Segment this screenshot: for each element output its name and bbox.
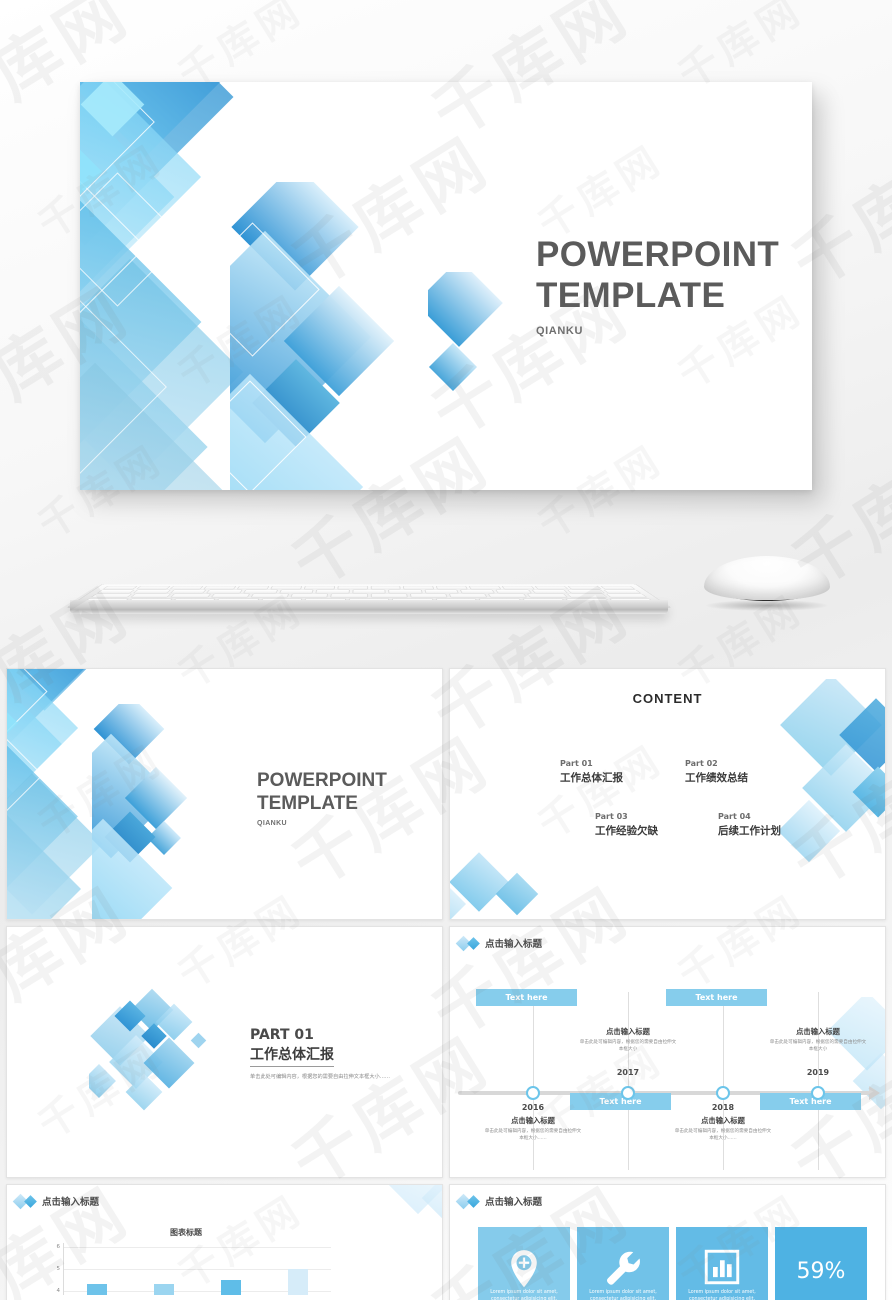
keyboard-key[interactable]: [606, 594, 648, 598]
keyboard-device: [66, 556, 672, 622]
timeline-node-1[interactable]: [621, 1086, 635, 1100]
keyboard-key[interactable]: [170, 590, 207, 594]
keyboard-key[interactable]: [236, 586, 269, 589]
hero-subtitle: QIANKU: [536, 325, 779, 337]
timeline-diamond-right: [783, 997, 886, 1167]
timeline-block-body: 单击此处可编辑内容，根据您的需要自由拉伸文本框大小……: [483, 1128, 583, 1142]
keyboard-key[interactable]: [532, 590, 569, 594]
content-item-part: Part 04: [718, 812, 781, 821]
content-item-part: Part 01: [560, 759, 623, 768]
keyboard-row: [90, 594, 648, 598]
keyboard-key[interactable]: [535, 586, 569, 589]
timeline-block-body: 单击此处可编辑内容，根据您的需要自由拉伸文本框大小……: [673, 1128, 773, 1142]
slide-header-label: 点击输入标题: [485, 1194, 542, 1208]
keyboard-key[interactable]: [133, 590, 171, 594]
keyboard-key[interactable]: [436, 586, 468, 589]
timeline-block-0: 点击输入标题 单击此处可编辑内容，根据您的需要自由拉伸文本框大小……: [483, 1116, 583, 1142]
keyboard-key[interactable]: [352, 590, 386, 594]
content-item-0[interactable]: Part 01 工作总体汇报: [560, 759, 623, 785]
keyboard-row: [103, 586, 636, 589]
chart-diamond-corner: [366, 1184, 443, 1237]
timeline-stem: [723, 992, 724, 1170]
thumb1-subtitle: QIANKU: [257, 820, 387, 827]
keyboard-key[interactable]: [250, 594, 289, 598]
slide-header-label: 点击输入标题: [42, 1194, 99, 1208]
chart-bar[interactable]: [87, 1284, 107, 1295]
chart-title: 图表标题: [41, 1227, 331, 1238]
tile-1[interactable]: Lorem ipsum dolor sit amet, consectetur …: [577, 1227, 669, 1300]
slide-header: 点击输入标题: [458, 1194, 542, 1208]
thumb1-text-block: POWERPOINT TEMPLATE QIANKU: [257, 769, 387, 827]
thumb-chart-slide[interactable]: 点击输入标题 图表标题 456: [6, 1184, 443, 1300]
chart-y-tick: 4: [42, 1288, 60, 1294]
thumb-timeline-slide[interactable]: 点击输入标题 Text here Text here Text here Tex…: [449, 926, 886, 1178]
wrench-icon: [604, 1249, 642, 1287]
keyboard-key[interactable]: [449, 594, 488, 598]
thumb-tiles-slide[interactable]: 点击输入标题 Lorem ipsum dolor sit amet, conse…: [449, 1184, 886, 1300]
mouse-device: [700, 556, 834, 612]
chart-y-tick: 5: [42, 1266, 60, 1272]
section-part-number: PART 01: [250, 1027, 415, 1043]
timeline-block-heading: 点击输入标题: [578, 1027, 678, 1037]
diamond-dark-icon: [24, 1195, 37, 1208]
timeline-block-2: 点击输入标题 单击此处可编辑内容，根据您的需要自由拉伸文本框大小……: [673, 1116, 773, 1142]
timeline-block-heading: 点击输入标题: [768, 1027, 868, 1037]
keyboard-key[interactable]: [130, 594, 171, 598]
timeline-year-2: 2018: [703, 1103, 743, 1112]
keyboard-key[interactable]: [567, 594, 608, 598]
timeline-block-body: 单击此处可编辑内容，根据您的需要自由拉伸文本框大小: [768, 1039, 868, 1053]
watermark-text: 千库网: [0, 710, 5, 906]
keyboard-key[interactable]: [403, 586, 434, 589]
content-item-3[interactable]: Part 04 后续工作计划: [718, 812, 781, 838]
timeline-block-heading: 点击输入标题: [483, 1116, 583, 1126]
chart-gridline: [64, 1247, 331, 1248]
timeline-block-heading: 点击输入标题: [673, 1116, 773, 1126]
keyboard-key[interactable]: [103, 586, 138, 589]
timeline-stem: [628, 992, 629, 1170]
keyboard-key[interactable]: [210, 594, 250, 598]
keyboard-key[interactable]: [567, 590, 605, 594]
hero-slide-preview: POWERPOINT TEMPLATE QIANKU: [80, 82, 812, 490]
chart-plot-area: 456: [63, 1243, 331, 1295]
timeline-block-3: 点击输入标题 单击此处可编辑内容，根据您的需要自由拉伸文本框大小: [768, 1027, 868, 1053]
tile-3[interactable]: 59% From 2014: [775, 1227, 867, 1300]
keyboard-key[interactable]: [410, 594, 448, 598]
keyboard-key[interactable]: [170, 594, 210, 598]
section-description: 单击此处可编辑内容，根据您的需要自由拉伸文本框大小……: [250, 1073, 415, 1081]
page-root: 千库网千库网千库网千库网千库网千库网千库网千库网千库网千库网千库网千库网千库网千…: [0, 0, 892, 1300]
watermark-text: 千库网: [0, 110, 5, 306]
watermark-text: 千库网: [0, 1010, 5, 1206]
thumb-section-slide[interactable]: PART 01 工作总体汇报 单击此处可编辑内容，根据您的需要自由拉伸文本框大小…: [6, 926, 443, 1178]
timeline-stem: [533, 992, 534, 1170]
hero-text-block: POWERPOINT TEMPLATE QIANKU: [536, 234, 779, 337]
keyboard-key[interactable]: [488, 594, 528, 598]
hero-diamond-right: [428, 272, 548, 432]
timeline-year-1: 2017: [608, 1068, 648, 1077]
keyboard-key[interactable]: [270, 586, 302, 589]
content-item-label: 后续工作计划: [718, 823, 781, 838]
map-pin-plus-icon: [507, 1249, 541, 1289]
section-text-block: PART 01 工作总体汇报 单击此处可编辑内容，根据您的需要自由拉伸文本框大小…: [250, 1027, 415, 1081]
keyboard-key[interactable]: [279, 590, 314, 594]
keyboard-row: [97, 590, 642, 594]
slide-header: 点击输入标题: [458, 936, 542, 950]
timeline-year-0: 2016: [513, 1103, 553, 1112]
keyboard-key[interactable]: [243, 590, 279, 594]
tile-stat-value: 59%: [797, 1259, 846, 1284]
keyboard-key[interactable]: [370, 594, 407, 598]
tile-body: Lorem ipsum dolor sit amet, consectetur …: [487, 1289, 561, 1300]
slide-header-label: 点击输入标题: [485, 936, 542, 950]
keyboard-key[interactable]: [290, 594, 328, 598]
diamond-dark-icon: [467, 1195, 480, 1208]
bar-chart: 图表标题 456: [41, 1243, 331, 1295]
keyboard-key[interactable]: [460, 590, 496, 594]
keyboard-key[interactable]: [316, 590, 350, 594]
tile-2[interactable]: Lorem ipsum dolor sit amet, consectetur …: [676, 1227, 768, 1300]
chart-bar[interactable]: [221, 1280, 241, 1295]
keyboard-key[interactable]: [206, 590, 242, 594]
content-diamond-left: [449, 829, 580, 920]
timeline-node-2[interactable]: [716, 1086, 730, 1100]
keyboard-key[interactable]: [136, 586, 171, 589]
content-item-label: 工作总体汇报: [560, 770, 623, 785]
diamond-dark-icon: [467, 937, 480, 950]
hero-title-line2: TEMPLATE: [536, 275, 779, 316]
content-diamond-right: [755, 679, 886, 879]
slide-header: 点击输入标题: [15, 1194, 99, 1208]
keyboard-key[interactable]: [169, 586, 203, 589]
content-item-part: Part 03: [595, 812, 658, 821]
timeline-node-0[interactable]: [526, 1086, 540, 1100]
section-heading: 工作总体汇报: [250, 1044, 334, 1067]
chart-bar[interactable]: [154, 1284, 174, 1295]
keyboard-key[interactable]: [90, 594, 132, 598]
keyboard-key[interactable]: [337, 586, 368, 589]
watermark-text: 千库网: [271, 0, 505, 6]
keyboard-key[interactable]: [496, 590, 532, 594]
hero-slide-canvas: POWERPOINT TEMPLATE QIANKU: [80, 82, 812, 490]
keyboard-base: [70, 600, 668, 614]
section-diamond-cluster: [89, 987, 234, 1117]
keyboard-key[interactable]: [370, 586, 401, 589]
tile-body: Lorem ipsum dolor sit amet, consectetur …: [685, 1289, 759, 1300]
keyboard-key[interactable]: [469, 586, 502, 589]
timeline-arrow-icon: [869, 1086, 880, 1100]
thumb-content-slide[interactable]: CONTENT Part 01 工作总体汇报 Part 02 工作绩效总结: [449, 668, 886, 920]
content-item-label: 工作绩效总结: [685, 770, 748, 785]
mouse-shadow: [706, 600, 828, 611]
timeline-chip-0[interactable]: Text here: [476, 989, 577, 1006]
timeline-block-body: 单击此处可编辑内容，根据您的需要自由拉伸文本框大小: [578, 1039, 678, 1053]
content-item-1[interactable]: Part 02 工作绩效总结: [685, 759, 748, 785]
keyboard-key[interactable]: [303, 586, 334, 589]
content-item-part: Part 02: [685, 759, 748, 768]
thumb-title-slide[interactable]: POWERPOINT TEMPLATE QIANKU: [6, 668, 443, 920]
timeline-node-3[interactable]: [811, 1086, 825, 1100]
keyboard-key[interactable]: [203, 586, 236, 589]
timeline-chip-1[interactable]: Text here: [666, 989, 767, 1006]
keyboard-key[interactable]: [502, 586, 535, 589]
watermark-text: 千库网: [0, 410, 5, 606]
watermark-text: 千库网: [0, 0, 5, 6]
thumb1-title-line1: POWERPOINT: [257, 769, 387, 792]
keyboard-key[interactable]: [600, 586, 635, 589]
keyboard-key[interactable]: [388, 590, 422, 594]
mouse-body: [704, 556, 830, 600]
timeline-year-3: 2019: [798, 1068, 838, 1077]
slide-thumbnail-grid: POWERPOINT TEMPLATE QIANKU CONTENT Par: [6, 668, 886, 1300]
timeline-block-1: 点击输入标题 单击此处可编辑内容，根据您的需要自由拉伸文本框大小: [578, 1027, 678, 1053]
keyboard-key[interactable]: [97, 590, 135, 594]
chart-y-tick: 6: [42, 1244, 60, 1250]
thumb1-title-line2: TEMPLATE: [257, 792, 387, 815]
watermark-text: 千库网: [771, 0, 892, 6]
tile-row: Lorem ipsum dolor sit amet, consectetur …: [478, 1227, 867, 1300]
bar-chart-icon: [704, 1249, 740, 1285]
content-item-2[interactable]: Part 03 工作经验欠缺: [595, 812, 658, 838]
tile-0[interactable]: Lorem ipsum dolor sit amet, consectetur …: [478, 1227, 570, 1300]
keyboard-key[interactable]: [527, 594, 567, 598]
keyboard-key[interactable]: [330, 594, 367, 598]
chart-bar[interactable]: [288, 1269, 308, 1295]
hero-title-line1: POWERPOINT: [536, 234, 779, 275]
keyboard-key[interactable]: [603, 590, 641, 594]
keyboard-key[interactable]: [424, 590, 459, 594]
keyboard-key[interactable]: [567, 586, 602, 589]
timeline-stem: [818, 992, 819, 1170]
content-item-label: 工作经验欠缺: [595, 823, 658, 838]
thumb1-diamond-mid: [92, 704, 262, 919]
tile-body: Lorem ipsum dolor sit amet, consectetur …: [586, 1289, 660, 1300]
